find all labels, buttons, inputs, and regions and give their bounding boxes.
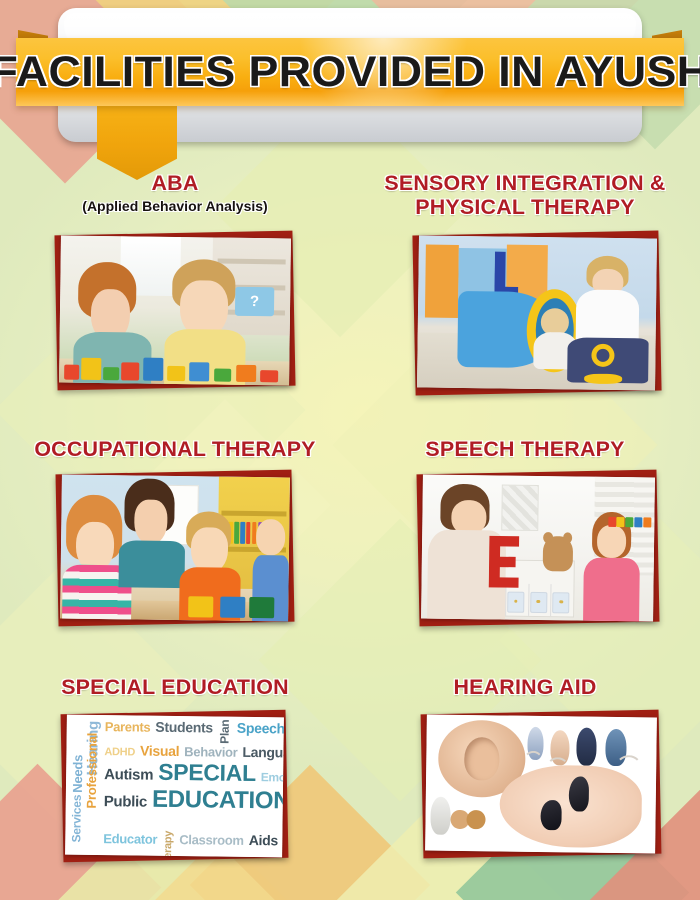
aba-therapy-photo: [56, 233, 294, 388]
scene-hearing-aid-in-palm-2: [540, 800, 561, 830]
occupational-therapy-photo: [57, 472, 293, 624]
word-cloud-row: EducatorTherapyClassroomAids: [103, 830, 281, 857]
scene-wall-art: [501, 484, 539, 531]
word-cloud-word: EDUCATION: [152, 786, 284, 816]
scene-toy-blocks: [608, 517, 650, 528]
photo-scene: [421, 474, 655, 621]
section-title-sensory-line1: SENSORY INTEGRATION &: [347, 172, 700, 196]
section-title-speech: SPEECH THERAPY: [347, 438, 700, 462]
photo-inner: [421, 474, 655, 621]
speech-therapy-photo: [418, 472, 658, 624]
word-cloud-word: Behavior: [184, 744, 237, 760]
page-title: FACILITIES PROVIDED IN AYUSH: [3, 38, 698, 106]
word-cloud-vertical-word: Services: [69, 795, 84, 843]
word-cloud-word: Autism: [104, 766, 153, 784]
hearing-aid-photo: [422, 712, 660, 856]
word-cloud: HearingNeedsServicesProfessional Parents…: [65, 715, 284, 858]
scene-teddy-bear: [542, 537, 573, 572]
ribbon-tail: [97, 104, 177, 180]
word-cloud-row: AutismSPECIALEmotional: [104, 758, 281, 787]
section-occupational-therapy: OCCUPATIONAL THERAPY: [0, 438, 350, 462]
scene-toys: [64, 350, 285, 382]
header-ribbon: FACILITIES PROVIDED IN AYUSH: [16, 38, 684, 106]
scene-child: [583, 511, 640, 621]
word-cloud-vertical-words: HearingNeedsServicesProfessional: [67, 719, 103, 851]
section-title-aba: ABA: [0, 172, 354, 196]
poster-header: FACILITIES PROVIDED IN AYUSH: [0, 0, 700, 150]
photo-inner: [60, 475, 290, 622]
section-title-special-education: SPECIAL EDUCATION: [0, 676, 354, 700]
section-speech-therapy: SPEECH THERAPY: [350, 438, 700, 462]
photo-inner: [417, 235, 657, 390]
word-cloud-word: ADHD: [104, 746, 135, 758]
word-cloud-word: Emotional: [261, 770, 284, 785]
word-cloud-row: ParentsStudentsPlanSpeech: [105, 718, 282, 744]
section-hearing-aid: HEARING AID: [350, 676, 700, 700]
word-cloud-row: PublicEDUCATIONTeachersClass: [103, 785, 281, 832]
word-cloud-word: Plan: [218, 720, 232, 744]
special-education-word-cloud: HearingNeedsServicesProfessional Parents…: [62, 712, 287, 860]
scene-hearing-aid-in-palm-1: [568, 776, 589, 812]
section-title-sensory-line2: PHYSICAL THERAPY: [347, 196, 700, 220]
section-special-education: SPECIAL EDUCATION HearingNeedsServicesPr…: [0, 676, 350, 700]
photo-scene: [417, 235, 657, 390]
scene-hearing-aid-3: [576, 727, 597, 765]
scene-letter-e-card: [489, 536, 520, 588]
photo-inner: [425, 715, 657, 854]
scene-ring-toy: [584, 344, 623, 384]
scene-therapist: [120, 478, 185, 585]
word-cloud-word: SPECIAL: [158, 759, 256, 787]
section-sensory-integration: SENSORY INTEGRATION & PHYSICAL THERAPY: [350, 172, 700, 219]
photo-scene: [60, 475, 290, 622]
photo-scene: [425, 715, 657, 854]
word-cloud-word: Therapy: [162, 831, 175, 857]
word-cloud-word: Speech: [237, 720, 284, 737]
section-title-occupational: OCCUPATIONAL THERAPY: [0, 438, 354, 462]
section-title-hearing-aid: HEARING AID: [347, 676, 700, 700]
word-cloud-word: Students: [155, 719, 213, 736]
photo-scene: [59, 236, 291, 386]
word-cloud-word: Parents: [105, 719, 151, 735]
photo-inner: [59, 236, 291, 386]
word-cloud-vertical-word: Professional: [84, 733, 100, 809]
sensory-integration-photo: [414, 233, 660, 393]
word-cloud-word: Classroom: [179, 832, 244, 848]
photo-inner: HearingNeedsServicesProfessional Parents…: [65, 715, 284, 858]
word-cloud-word: Public: [104, 793, 147, 811]
scene-hearing-aid-behind-ear: [430, 796, 451, 834]
scene-ear-mold-2: [467, 810, 486, 829]
scene-panel-orange: [425, 245, 459, 318]
word-cloud-rows: ParentsStudentsPlanSpeechADHDVisualBehav…: [103, 718, 282, 855]
section-aba: ABA (Applied Behavior Analysis): [0, 172, 350, 214]
word-cloud-word: Language: [242, 744, 284, 761]
word-cloud-word: Visual: [140, 743, 179, 760]
section-subtitle-aba: (Applied Behavior Analysis): [0, 198, 350, 214]
poster-canvas: FACILITIES PROVIDED IN AYUSH ABA (Applie…: [0, 0, 700, 900]
word-cloud-word: Educator: [103, 831, 157, 847]
word-cloud-word: Aids: [249, 832, 278, 848]
